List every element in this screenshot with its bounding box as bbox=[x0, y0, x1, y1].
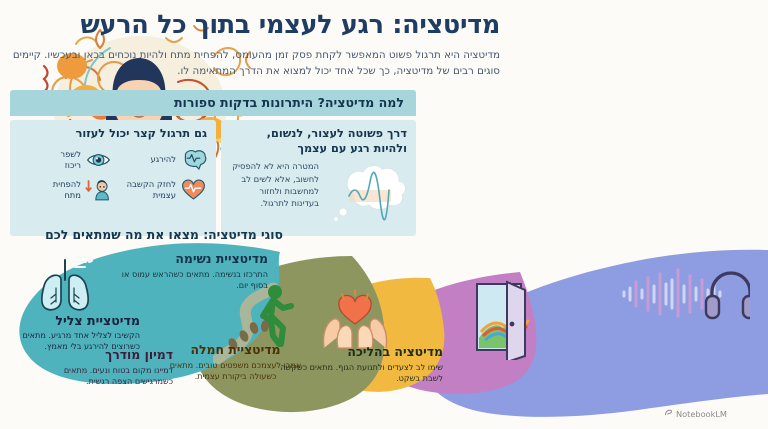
definition-card-body: המטרה היא לא להפסיק לחשוב, אלא לשים לב ל… bbox=[230, 160, 319, 209]
brain-pulse-icon bbox=[180, 147, 207, 173]
benefit-label: לשפרריכוז bbox=[60, 149, 81, 170]
short-practice-card: גם תרגול קצר יכול לעזור להירגע bbox=[10, 120, 216, 236]
short-practice-heading: גם תרגול קצר יכול לעזור bbox=[19, 127, 207, 142]
type-card-imagination: דמיון מודרך דמיינו מקום בטוח ונעים. מתאי… bbox=[51, 348, 173, 387]
benefit-item: להירגע bbox=[114, 147, 207, 173]
type-description: אמרו לעצמכם משפטים טובים. מתאים כשעולה ב… bbox=[168, 360, 303, 382]
notebooklm-logo-icon bbox=[664, 408, 673, 419]
infographic-root: מדיטציה: רגע לעצמי בתוך כל הרעש מדיטציה … bbox=[0, 0, 768, 429]
type-title: מדיטציית חמלה bbox=[168, 343, 303, 358]
page-subtitle: מדיטציה היא תרגול פשוט המאפשר לקחת פסק ז… bbox=[10, 48, 500, 80]
eye-focus-icon bbox=[85, 147, 112, 173]
definition-card: דרך פשוטה לעצור, לנשום, ולהיות רגע עם עצ… bbox=[221, 120, 416, 236]
lungs-breath-icon bbox=[34, 254, 96, 316]
benefit-label: להפחיתמתח bbox=[53, 179, 81, 200]
benefit-item: לשפרריכוז bbox=[19, 147, 112, 173]
person-stress-down-icon bbox=[85, 177, 112, 203]
benefit-label: להירגע bbox=[150, 154, 176, 165]
page-title: מדיטציה: רגע לעצמי בתוך כל הרעש bbox=[12, 10, 500, 40]
headphones-waveform-icon bbox=[620, 262, 750, 328]
benefit-item: לחזק הקשבהעצמית bbox=[114, 177, 207, 203]
notebooklm-watermark: NotebookLM bbox=[664, 408, 727, 419]
definition-card-heading: דרך פשוטה לעצור, לנשום, ולהיות רגע עם עצ… bbox=[230, 127, 407, 156]
type-description: דמיינו מקום בטוח ונעים. מתאים כשמרגישים … bbox=[51, 365, 173, 387]
open-door-rainbow-icon bbox=[467, 280, 533, 364]
benefit-item: להפחיתמתח bbox=[19, 177, 112, 203]
type-description: הקשיבו לצליל אחד מרגיע. מתאים כשרוצים לה… bbox=[8, 330, 140, 352]
type-description: התרכזו בנשימה. מתאים כשהראש עמוס או בסוף… bbox=[118, 269, 268, 291]
benefits-section-bar: למה מדיטציה? היתרונות בדקות ספורות bbox=[10, 90, 416, 116]
type-title: מדיטציית צליל bbox=[8, 313, 140, 328]
benefits-section: למה מדיטציה? היתרונות בדקות ספורות דרך פ… bbox=[10, 90, 416, 236]
benefit-label: לחזק הקשבהעצמית bbox=[127, 179, 176, 200]
heart-pulse-icon bbox=[180, 177, 207, 203]
type-card-sound: מדיטציית צליל הקשיבו לצליל אחד מרגיע. מת… bbox=[8, 313, 140, 352]
thought-cloud-icon bbox=[325, 160, 407, 228]
type-card-compassion: מדיטציית חמלה אמרו לעצמכם משפטים טובים. … bbox=[168, 343, 303, 382]
notebooklm-label: NotebookLM bbox=[676, 409, 727, 419]
type-title: מדיטציית נשימה bbox=[118, 252, 268, 267]
type-card-breathing: מדיטציית נשימה התרכזו בנשימה. מתאים כשהר… bbox=[118, 252, 268, 291]
